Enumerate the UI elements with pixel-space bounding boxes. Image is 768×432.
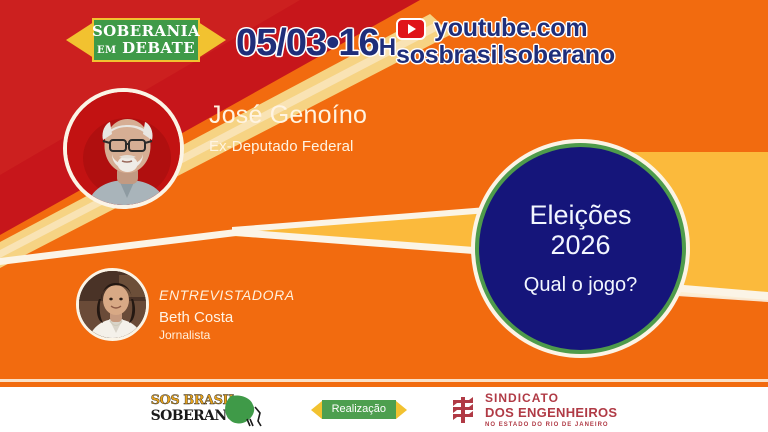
sindicato-line-3: NO ESTADO DO RIO DE JANEIRO xyxy=(485,422,617,428)
interviewer-label: ENTREVISTADORA xyxy=(159,287,295,303)
youtube-site-row[interactable]: youtube.com xyxy=(396,14,615,43)
youtube-icon xyxy=(396,18,426,40)
badge-line-2: EM DEBATE xyxy=(97,41,195,56)
youtube-handle-label: sosbrasilsoberano xyxy=(396,41,615,70)
realizacao-label: Realização xyxy=(322,400,396,419)
badge-line-1: SOBERANIA xyxy=(92,24,200,39)
footer-bar: SOS BRASIL SOBERANO Realização xyxy=(0,385,768,432)
event-badge: SOBERANIA EM DEBATE xyxy=(66,12,226,68)
youtube-channel-block[interactable]: youtube.com sosbrasilsoberano xyxy=(396,14,615,70)
event-datetime: 05/03•16H xyxy=(236,22,395,65)
sindicato-mark-icon xyxy=(451,395,477,425)
badge-debate-word: DEBATE xyxy=(122,39,195,57)
sindicato-line-1: SINDICATO xyxy=(485,392,617,404)
guest-avatar xyxy=(63,88,184,209)
interviewer-avatar xyxy=(76,268,149,341)
sindicato-line-2: DOS ENGENHEIROS xyxy=(485,406,617,419)
interviewer-name: Beth Costa xyxy=(159,309,233,326)
sindicato-logo: SINDICATO DOS ENGENHEIROS NO ESTADO DO R… xyxy=(451,392,617,428)
topic-line-1: Eleições xyxy=(529,200,631,230)
footer-logos: SOS BRASIL SOBERANO Realização xyxy=(0,387,768,432)
brazil-map-icon xyxy=(217,393,267,427)
promo-banner: SOBERANIA EM DEBATE 05/03•16H youtube.co… xyxy=(0,0,768,432)
sindicato-text: SINDICATO DOS ENGENHEIROS NO ESTADO DO R… xyxy=(485,392,617,428)
arrow-right-icon xyxy=(396,401,407,419)
topic-circle: Eleições 2026 Qual o jogo? xyxy=(475,143,686,354)
play-triangle-icon xyxy=(408,24,416,34)
datetime-separator: • xyxy=(326,22,338,64)
guest-name: José Genoíno xyxy=(209,101,367,130)
guest-role: Ex-Deputado Federal xyxy=(209,138,353,155)
topic-line-3: Qual o jogo? xyxy=(524,274,637,297)
event-time-unit: H xyxy=(379,34,395,61)
event-time: 16 xyxy=(338,22,378,64)
youtube-site-label: youtube.com xyxy=(434,14,587,43)
event-date: 05/03 xyxy=(236,22,326,64)
sos-brasil-soberano-logo: SOS BRASIL SOBERANO xyxy=(151,393,267,427)
badge-em-word: EM xyxy=(97,45,117,56)
badge-inner-box: SOBERANIA EM DEBATE xyxy=(92,18,200,62)
interviewer-role: Jornalista xyxy=(159,328,210,342)
topic-line-2: 2026 xyxy=(550,230,610,260)
arrow-left-icon xyxy=(311,401,322,419)
realizacao-badge: Realização xyxy=(311,400,407,419)
